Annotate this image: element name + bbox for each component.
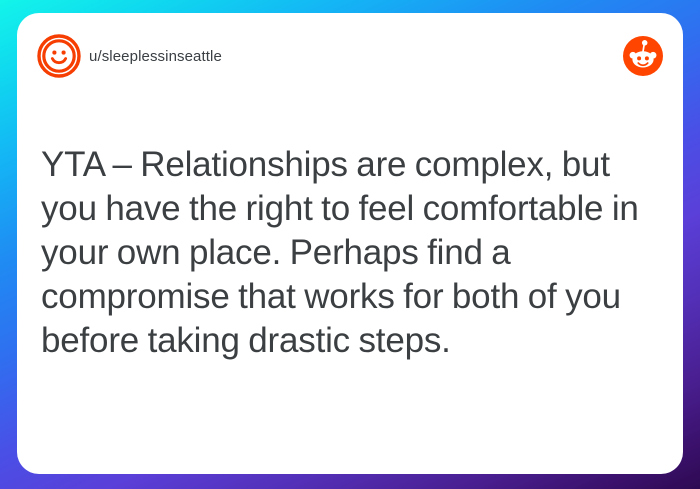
reddit-logo[interactable] [621,34,665,78]
screenshot-stage: u/sleeplessinseattle YTA – Relationships… [0,0,700,489]
username-label: u/sleeplessinseattle [89,33,222,79]
card-header: u/sleeplessinseattle [17,13,683,118]
smiley-face-avatar-icon [36,33,82,79]
reddit-snoo-logo-icon [621,34,665,78]
avatar[interactable] [36,33,82,79]
reddit-comment-card: u/sleeplessinseattle YTA – Relationships… [17,13,683,474]
comment-text: YTA – Relationships are complex, but you… [41,143,659,363]
